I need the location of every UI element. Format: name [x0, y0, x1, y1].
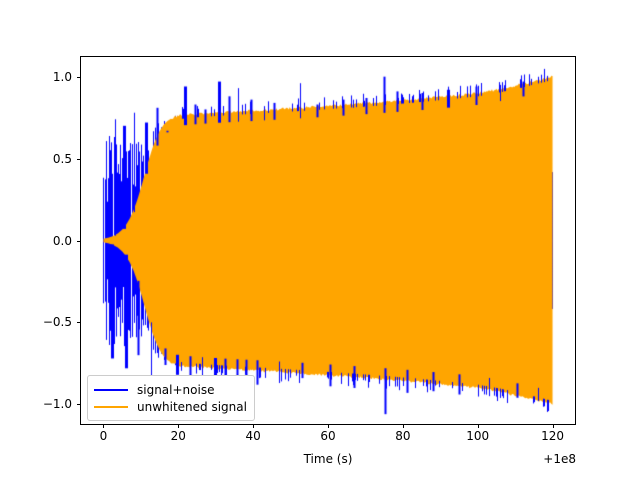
x-tick-label: 80 — [395, 430, 410, 442]
x-tick-label: 0 — [100, 430, 108, 442]
chart-legend[interactable]: signal+noise unwhitened signal — [87, 375, 255, 421]
legend-line-swatch-orange — [94, 406, 128, 408]
matplotlib-figure: −1.0−0.50.00.51.0 020406080100120 Time (… — [0, 0, 640, 480]
x-tick-label: 100 — [466, 430, 489, 442]
legend-line-swatch-blue — [94, 389, 128, 391]
x-tick-label: 20 — [171, 430, 186, 442]
legend-item-signal-noise[interactable]: signal+noise — [94, 381, 247, 398]
x-tick-label: 60 — [320, 430, 335, 442]
legend-label-signal-noise: signal+noise — [137, 384, 214, 396]
x-axis-offset-text: +1e8 — [376, 452, 576, 466]
legend-item-unwhitened-signal[interactable]: unwhitened signal — [94, 398, 247, 415]
x-tick-label: 40 — [246, 430, 261, 442]
legend-label-unwhitened-signal: unwhitened signal — [137, 401, 247, 413]
x-tick-label: 120 — [541, 430, 564, 442]
